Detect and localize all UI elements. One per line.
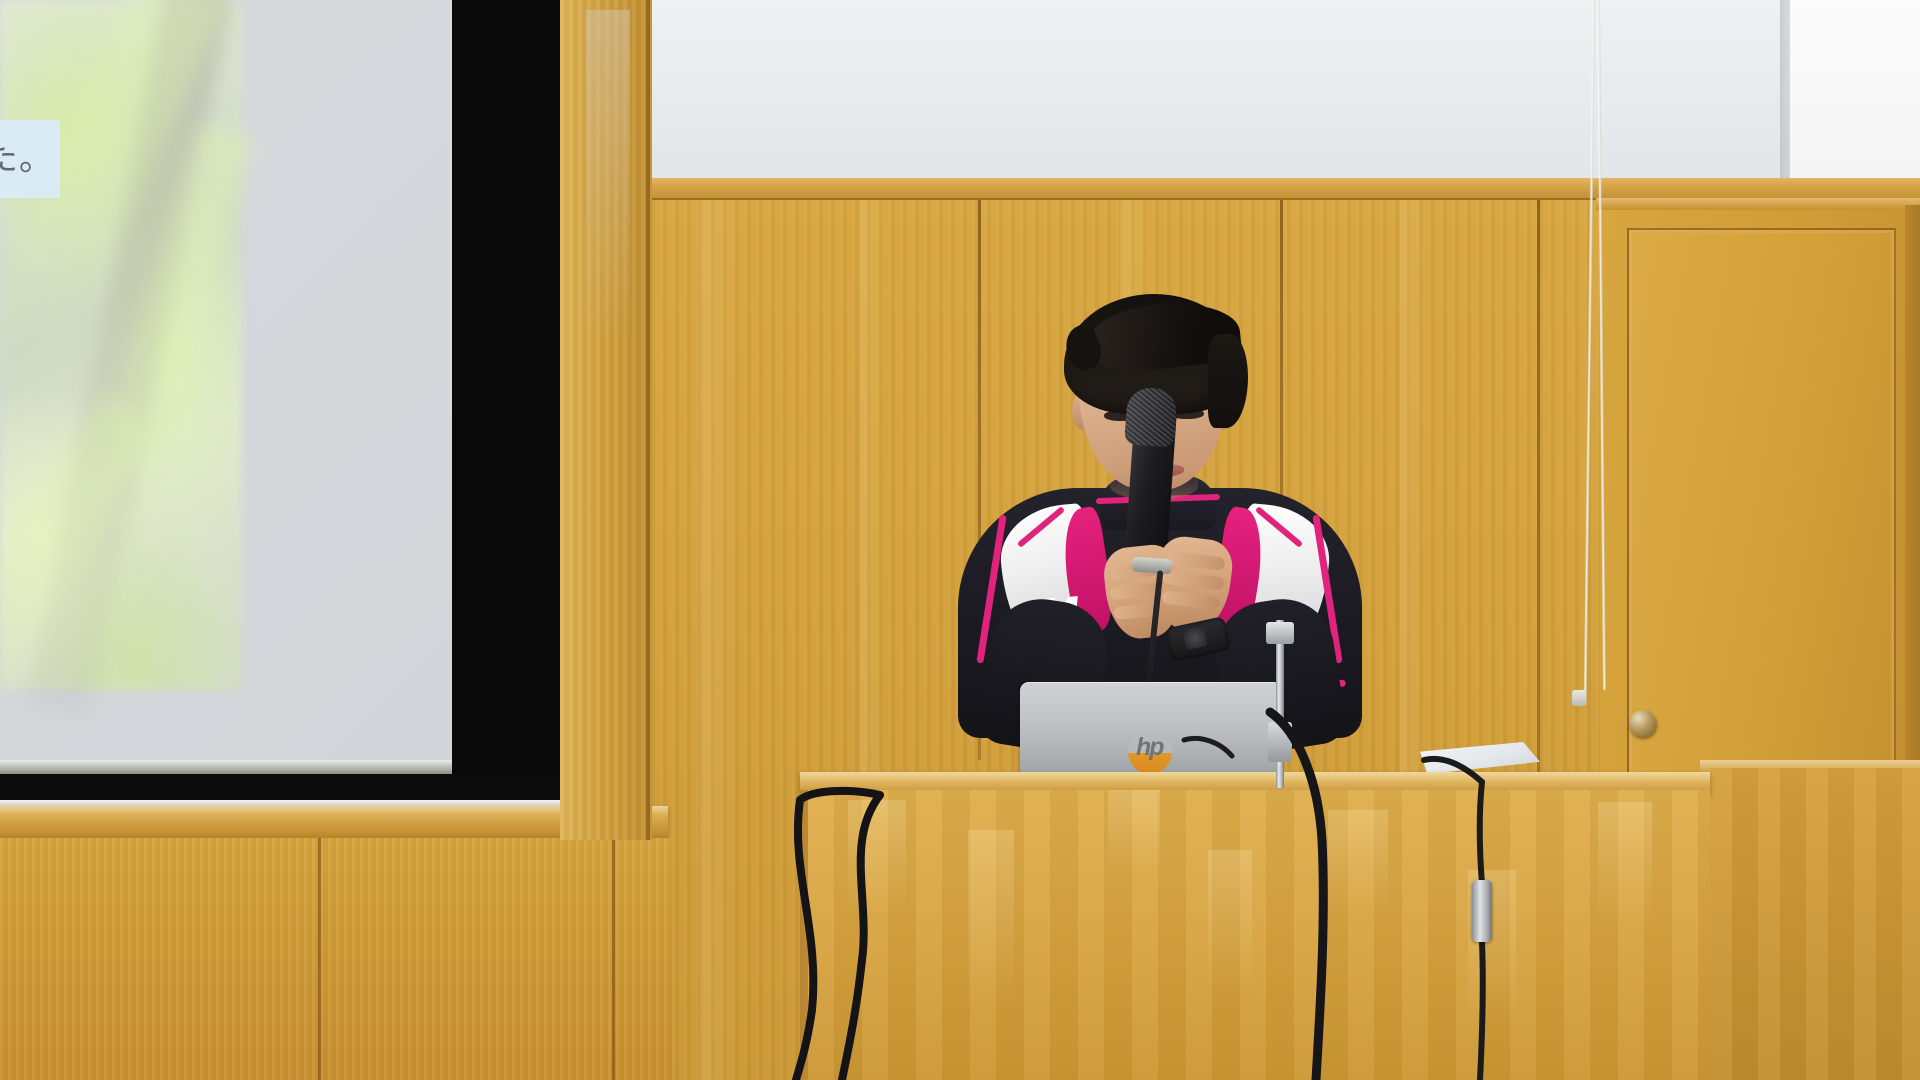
mic-stand-pole [1276,620,1284,788]
microphone-head [1124,386,1178,447]
podium-front-panel [808,790,1710,1080]
presenter: M [980,300,1340,730]
panel-seam [318,838,321,1080]
finger [1162,570,1225,590]
lower-left-panelling [0,838,672,1080]
podium-plank [968,830,1014,1010]
hanging-cord-tip [1572,690,1586,706]
wood-grain-stripe [700,200,740,1080]
microphone-ring [1132,557,1173,575]
podium-side-panel [1710,768,1920,1080]
podium-plank [1328,810,1388,920]
projection-screen-frame: た。 [0,0,560,812]
podium-plank [1598,802,1652,932]
mic-stand-clamp[interactable] [1266,622,1294,644]
cable-connector [1472,880,1492,942]
panel-seam [612,838,615,1080]
wood-pillar-edge [646,0,650,840]
finger [1166,551,1225,571]
doorknob-icon[interactable] [1629,710,1656,737]
door-top-trim [1596,198,1920,210]
hair-side-right [1208,334,1248,428]
screen-bottom-sill [0,760,452,774]
slide-caption-box: た。 [0,120,60,198]
upper-wall-right [1790,0,1920,200]
podium-plank [1108,790,1160,880]
podium-plank [848,800,906,920]
door-right-edge [1905,205,1920,805]
wood-pillar-grain [586,10,630,340]
photo-scene: た。 M [0,0,1920,1080]
podium-plank [1208,850,1252,1000]
hp-wordmark: hp [1136,736,1164,758]
screen-frame-right [452,0,560,800]
door-recessed-panel [1627,228,1896,792]
slide-caption-text: た。 [0,142,54,176]
projection-screen-surface: た。 [0,0,452,760]
finger [1161,590,1220,610]
mic-stand-clamp-lower[interactable] [1268,722,1292,762]
chair-rail-molding [648,178,1920,200]
